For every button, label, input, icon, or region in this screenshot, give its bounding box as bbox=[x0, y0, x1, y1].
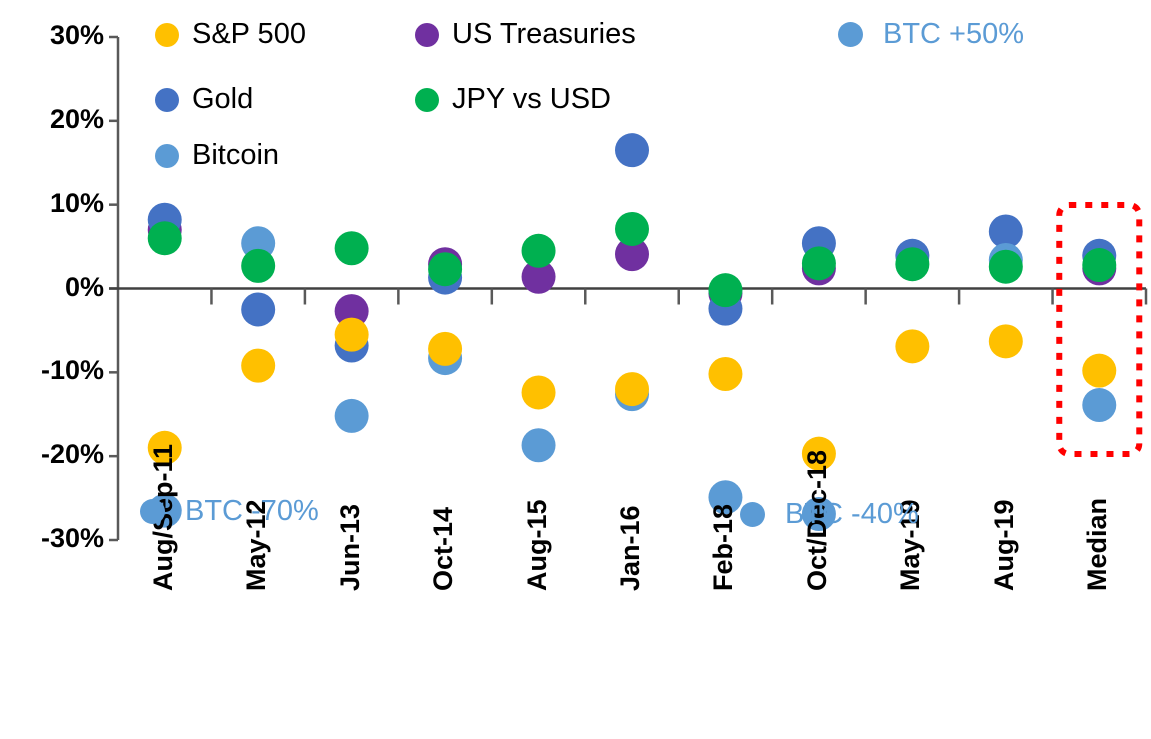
data-point-jpy-vs-usd bbox=[708, 273, 742, 307]
data-point-jpy-vs-usd bbox=[802, 246, 836, 280]
y-axis-tick-label: 30% bbox=[50, 20, 104, 51]
y-axis-tick-label: -20% bbox=[41, 439, 104, 470]
data-point-s-p-500 bbox=[335, 318, 369, 352]
data-point-jpy-vs-usd bbox=[615, 212, 649, 246]
legend-label: JPY vs USD bbox=[452, 83, 611, 116]
data-point-jpy-vs-usd bbox=[335, 231, 369, 265]
data-point-s-p-500 bbox=[1082, 354, 1116, 388]
legend-item-bitcoin[interactable]: Bitcoin bbox=[155, 139, 279, 172]
data-point-jpy-vs-usd bbox=[428, 252, 462, 286]
scatter-chart: 30%20%10%0%-10%-20%-30%Aug/Sep-11May-12J… bbox=[0, 0, 1151, 739]
data-point-s-p-500 bbox=[895, 329, 929, 363]
y-axis-tick-label: -30% bbox=[41, 523, 104, 554]
data-point-bitcoin bbox=[522, 428, 556, 462]
data-point-s-p-500 bbox=[522, 375, 556, 409]
legend-label: Bitcoin bbox=[192, 139, 279, 172]
annotation-btc-minus-70: BTC -70% bbox=[140, 495, 319, 528]
data-point-s-p-500 bbox=[428, 332, 462, 366]
x-axis-tick-label: Aug-15 bbox=[522, 499, 553, 591]
data-point-jpy-vs-usd bbox=[989, 250, 1023, 284]
annotation-btc-minus-40: BTC -40% bbox=[740, 498, 919, 531]
y-axis-tick-label: -10% bbox=[41, 355, 104, 386]
annotation-btc-plus-50: BTC +50% bbox=[838, 18, 1024, 51]
x-axis-tick-label: Feb-18 bbox=[708, 504, 739, 591]
data-point-jpy-vs-usd bbox=[241, 249, 275, 283]
legend-item-us-treasuries[interactable]: US Treasuries bbox=[415, 18, 636, 51]
data-point-s-p-500 bbox=[615, 372, 649, 406]
annotation-label: BTC +50% bbox=[883, 18, 1024, 51]
data-point-jpy-vs-usd bbox=[148, 221, 182, 255]
y-axis-tick-label: 10% bbox=[50, 188, 104, 219]
y-axis-tick-label: 20% bbox=[50, 104, 104, 135]
data-point-s-p-500 bbox=[989, 324, 1023, 358]
data-point-gold bbox=[615, 133, 649, 167]
legend-marker-icon bbox=[155, 88, 179, 112]
x-axis-tick-label: Aug-19 bbox=[989, 499, 1020, 591]
legend-label: US Treasuries bbox=[452, 18, 636, 51]
x-axis-tick-label: Oct-14 bbox=[428, 507, 459, 591]
legend-label: Gold bbox=[192, 83, 253, 116]
annotation-label: BTC -40% bbox=[785, 498, 919, 531]
legend-item-jpy-vs-usd[interactable]: JPY vs USD bbox=[415, 83, 611, 116]
x-axis-tick-label: Jun-13 bbox=[335, 504, 366, 591]
x-axis-tick-label: Median bbox=[1082, 498, 1113, 591]
annotation-marker-icon bbox=[740, 502, 765, 527]
legend-marker-icon bbox=[155, 23, 179, 47]
data-point-jpy-vs-usd bbox=[1082, 248, 1116, 282]
annotation-label: BTC -70% bbox=[185, 495, 319, 528]
legend-marker-icon bbox=[155, 144, 179, 168]
data-point-jpy-vs-usd bbox=[522, 234, 556, 268]
data-point-gold bbox=[241, 292, 275, 326]
data-point-bitcoin bbox=[1082, 388, 1116, 422]
data-point-bitcoin bbox=[335, 399, 369, 433]
x-axis-tick-label: Jan-16 bbox=[615, 505, 646, 591]
data-point-s-p-500 bbox=[241, 349, 275, 383]
legend-label: S&P 500 bbox=[192, 18, 306, 51]
data-point-s-p-500 bbox=[708, 357, 742, 391]
y-axis-tick-label: 0% bbox=[65, 272, 104, 303]
annotation-marker-icon bbox=[838, 22, 863, 47]
legend-marker-icon bbox=[415, 23, 439, 47]
legend-item-s-p-500[interactable]: S&P 500 bbox=[155, 18, 306, 51]
legend-item-gold[interactable]: Gold bbox=[155, 83, 253, 116]
legend-marker-icon bbox=[415, 88, 439, 112]
data-point-jpy-vs-usd bbox=[895, 247, 929, 281]
annotation-marker-icon bbox=[140, 499, 165, 524]
